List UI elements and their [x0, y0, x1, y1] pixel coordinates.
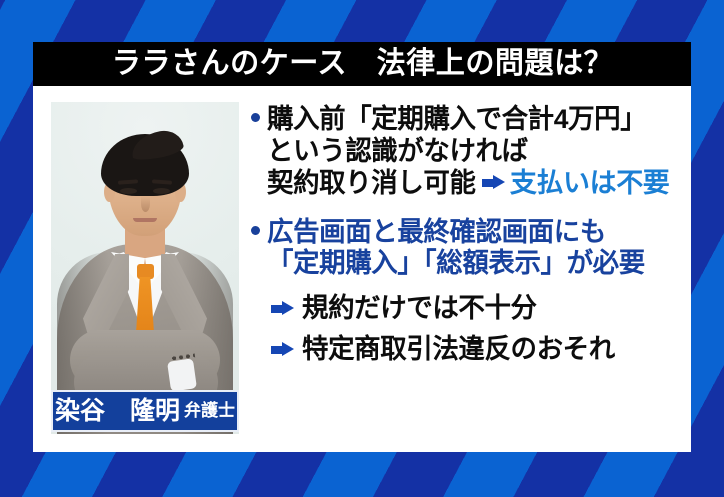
shirt-cuff	[167, 358, 197, 391]
eye-left	[120, 188, 137, 194]
right-arrow-icon	[271, 301, 294, 316]
bullet-line: 広告画面と最終確認画面にも	[251, 217, 685, 249]
sub-item-text: 規約だけでは不十分	[302, 293, 537, 325]
bullet-block-2: 広告画面と最終確認画面にも 「定期購入」「総額表示」が必要	[251, 217, 685, 281]
slide-canvas: ララさんのケース 法律上の問題は？	[0, 0, 724, 497]
page-title: ララさんのケース 法律上の問題は？	[111, 49, 612, 79]
bullet-line: 「定期購入」「総額表示」が必要	[251, 248, 685, 280]
bullet-line-text: 契約取り消し可能	[267, 168, 476, 200]
lawyer-photo	[51, 102, 239, 434]
right-arrow-icon	[271, 342, 294, 357]
name-plate: 染谷 隆明 弁護士	[51, 390, 239, 432]
bullet-line-text: 購入前「定期購入で合計4万円」	[267, 104, 646, 136]
title-bar: ララさんのケース 法律上の問題は？	[33, 42, 691, 86]
sub-item: 特定商取引法違反のおそれ	[271, 334, 685, 366]
nose-shape	[141, 196, 150, 212]
bullet-line-emphasis: 支払いは不要	[510, 168, 670, 200]
bullet-line-text: 「定期購入」「総額表示」が必要	[267, 248, 645, 280]
necktie-knot	[137, 264, 154, 279]
sub-item-list: 規約だけでは不十分 特定商取引法違反のおそれ	[251, 293, 685, 366]
sub-item: 規約だけでは不十分	[271, 293, 685, 325]
bullet-line: 契約取り消し可能 支払いは不要	[251, 168, 685, 200]
eye-right	[153, 188, 170, 194]
bullet-line: という認識がなければ	[251, 136, 685, 168]
portrait-panel: 染谷 隆明 弁護士	[51, 102, 239, 434]
bullet-line-text: 広告画面と最終確認画面にも	[267, 217, 606, 249]
content-card: 染谷 隆明 弁護士 購入前「定期購入で合計4万円」 という認識がなければ 契約取…	[33, 86, 691, 452]
right-arrow-icon	[482, 175, 505, 190]
bullet-line: 購入前「定期購入で合計4万円」	[251, 104, 685, 136]
bullet-text-column: 購入前「定期購入で合計4万円」 という認識がなければ 契約取り消し可能 支払いは…	[251, 100, 685, 444]
mouth-shape	[133, 218, 157, 222]
lawyer-role: 弁護士	[184, 402, 235, 420]
lawyer-name: 染谷 隆明	[55, 399, 180, 424]
bullet-line-text: という認識がなければ	[267, 136, 528, 168]
bullet-dot-icon	[251, 113, 260, 122]
bullet-dot-icon	[251, 226, 260, 235]
bullet-block-1: 購入前「定期購入で合計4万円」 という認識がなければ 契約取り消し可能 支払いは…	[251, 104, 685, 200]
sub-item-text: 特定商取引法違反のおそれ	[302, 334, 615, 366]
